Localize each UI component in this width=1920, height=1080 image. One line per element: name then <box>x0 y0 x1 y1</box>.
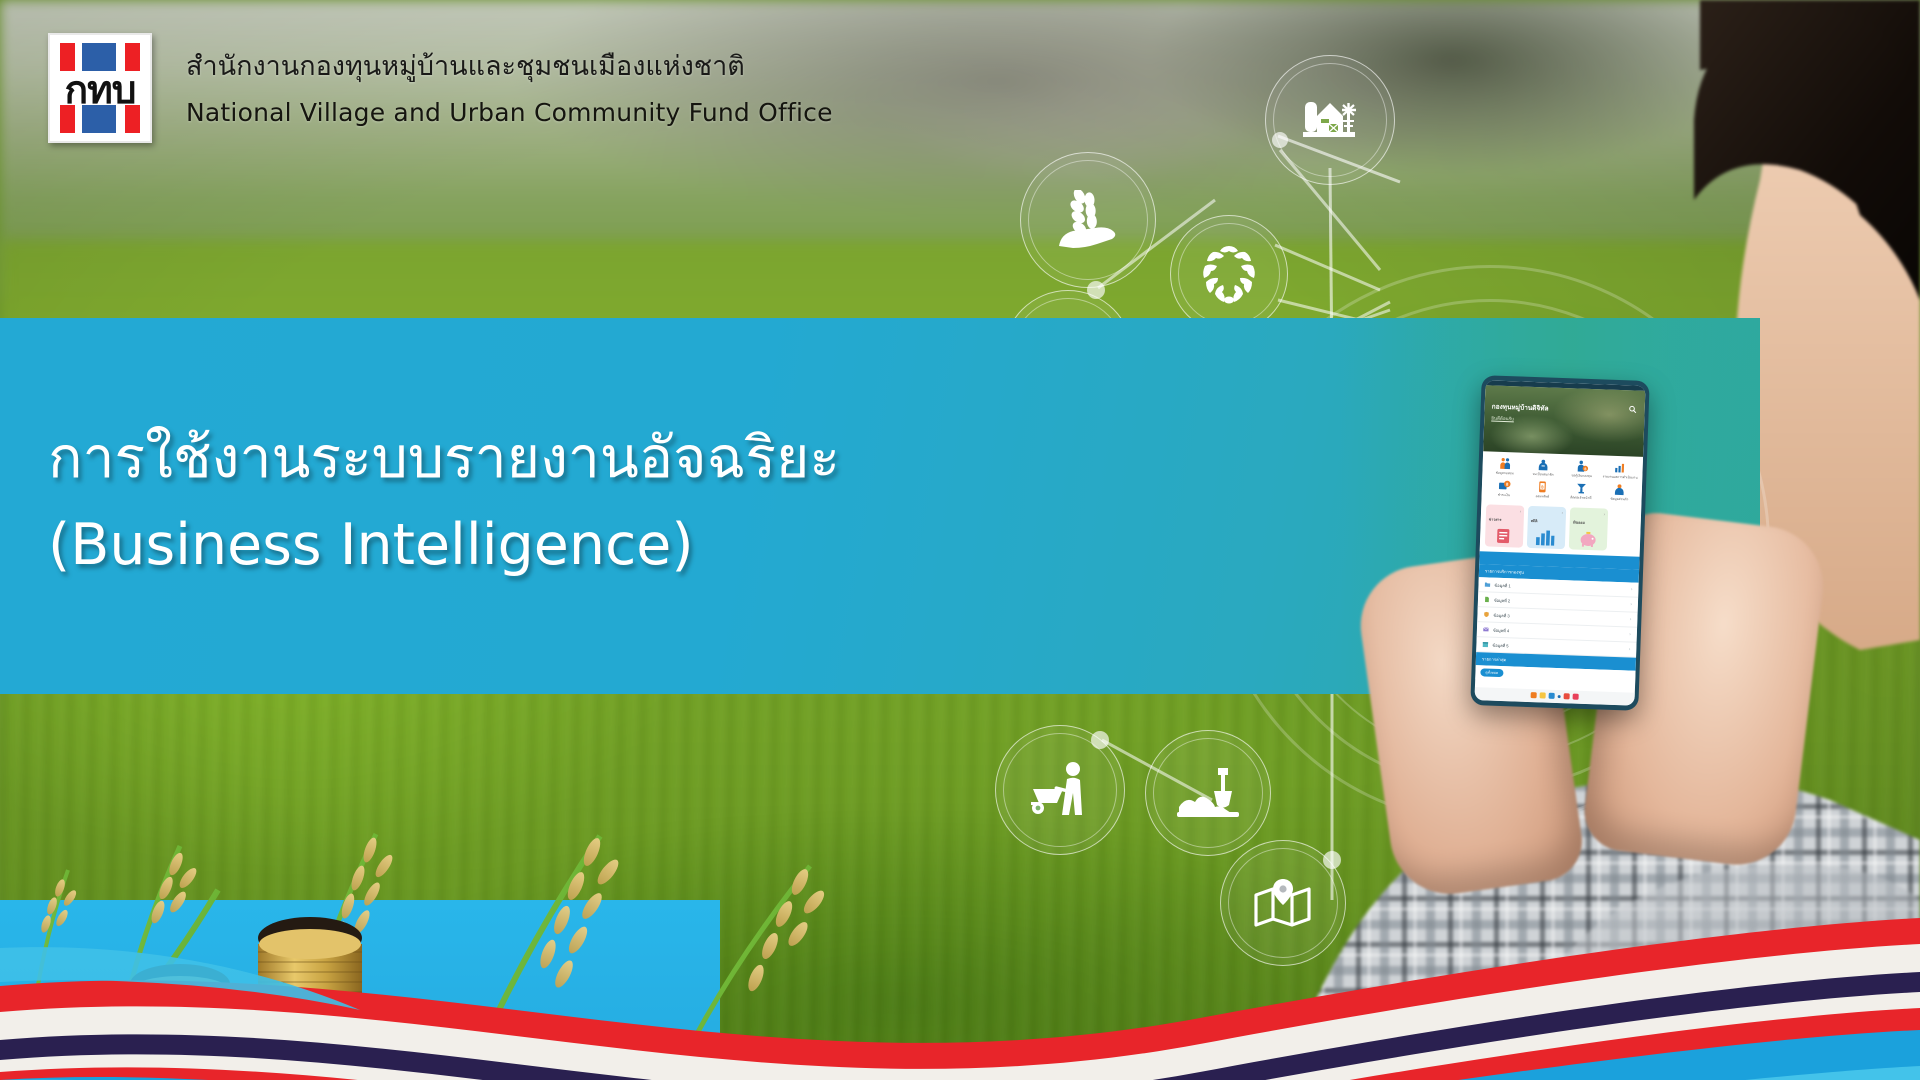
menu-item-label: ชำระเงิน <box>1498 494 1510 498</box>
shield-icon <box>1483 612 1489 618</box>
feature-card-label: สถิติ <box>1531 519 1538 523</box>
piggy-bank-icon <box>1579 531 1598 548</box>
list-item-label: ข้อมูลที่ 3 <box>1493 612 1509 620</box>
svg-text:฿: ฿ <box>1541 485 1544 490</box>
logo-text: กทบ <box>50 69 150 113</box>
feature-card-label: ข่าวสาร <box>1489 518 1502 522</box>
menu-item-label: ข้อมูลส่วนตัว <box>1610 498 1628 502</box>
menu-item[interactable]: ข้อมูลกองทุน <box>1485 456 1524 476</box>
nav-icon-4[interactable] <box>1558 695 1561 698</box>
nav-icon-2[interactable] <box>1540 692 1546 698</box>
loan-person-icon: ฿ <box>1575 459 1588 472</box>
chevron-right-icon: › <box>1520 509 1522 514</box>
phone-bottom-nav <box>1474 687 1634 706</box>
nav-icon-1[interactable] <box>1531 692 1537 698</box>
app-hero-banner: กองทุนหมู่บ้านดิจิทัล ยินดีต้อนรับ <box>1483 385 1645 457</box>
document-icon <box>1484 597 1490 603</box>
smartphone-mockup: กองทุนหมู่บ้านดิจิทัล ยินดีต้อนรับ ข้อมู… <box>1470 375 1649 711</box>
folder-icon <box>1484 582 1490 588</box>
menu-item-label: ขอกู้เงินกองทุน <box>1571 474 1592 478</box>
list-item-label: ข้อมูลที่ 1 <box>1494 582 1510 590</box>
chevron-right-icon: › <box>1631 587 1633 593</box>
savings-icon: ฿ <box>1536 480 1549 493</box>
calendar-icon <box>1482 642 1488 648</box>
chevron-right-icon: › <box>1630 617 1632 623</box>
payment-icon: ฿ <box>1497 479 1510 492</box>
app-feature-cards: ข่าวสาร › สถิติ › <box>1480 501 1642 558</box>
menu-item-label: ข้อมูลกองทุน <box>1496 472 1514 476</box>
menu-item[interactable]: รายงานผลการดำเนินงาน <box>1601 460 1640 480</box>
phone-screen: กองทุนหมู่บ้านดิจิทัล ยินดีต้อนรับ ข้อมู… <box>1474 380 1645 705</box>
view-all-chip[interactable]: ดูทั้งหมด <box>1480 669 1503 678</box>
feature-card[interactable]: สถิติ › <box>1527 506 1566 549</box>
search-icon[interactable] <box>1629 405 1637 413</box>
chevron-right-icon: › <box>1562 510 1564 515</box>
feature-card[interactable]: ข่าวสาร › <box>1485 505 1524 548</box>
org-name-thai: สำนักงานกองทุนหมู่บ้านและชุมชนเมืองแห่งช… <box>186 44 745 87</box>
nav-icon-6[interactable] <box>1573 694 1579 700</box>
people-icon <box>1498 457 1511 470</box>
slide-title-line1: การใช้งานระบบรายงานอัจฉริยะ <box>48 413 840 503</box>
mail-icon <box>1483 627 1489 633</box>
bottom-decoration <box>0 820 1920 1080</box>
thai-flag-wave-ribbon <box>0 890 1920 1080</box>
chevron-right-icon: › <box>1629 647 1631 653</box>
menu-item-label: ออมทรัพย์ <box>1535 495 1549 499</box>
nav-icon-3[interactable] <box>1549 693 1555 699</box>
menu-item[interactable]: ฿ ออมทรัพย์ <box>1523 480 1562 500</box>
profile-icon <box>1613 483 1626 496</box>
org-name-english: National Village and Urban Community Fun… <box>186 98 833 127</box>
menu-item-label: ติดต่อเจ้าหน้าที่ <box>1570 497 1591 501</box>
slide-root: การใช้งานระบบรายงานอัจฉริยะ (Business In… <box>0 0 1920 1080</box>
app-subtitle: ยินดีต้อนรับ <box>1491 415 1514 423</box>
report-chart-icon <box>1614 461 1627 474</box>
list-item-label: ข้อมูลที่ 5 <box>1492 642 1508 650</box>
menu-item[interactable]: ฿ ชำระเงิน <box>1485 479 1524 499</box>
contact-icon <box>1574 482 1587 495</box>
menu-item[interactable]: ข้อมูลส่วนตัว <box>1600 483 1639 503</box>
chevron-right-icon: › <box>1604 512 1606 517</box>
menu-item-label: รายงานผลการดำเนินงาน <box>1603 475 1638 479</box>
svg-text:฿: ฿ <box>1506 482 1509 487</box>
app-list: ข้อมูลที่ 1 › ข้อมูลที่ 2 › ข้อมูลที่ 3 … <box>1476 578 1639 659</box>
menu-item[interactable]: ฿ ขอกู้เงินกองทุน <box>1562 459 1601 479</box>
menu-item[interactable]: ทะเบียนสมาชิก <box>1524 458 1563 478</box>
chevron-right-icon: › <box>1630 602 1632 608</box>
chevron-right-icon: › <box>1629 632 1631 638</box>
ktb-logo: กทบ <box>48 33 152 143</box>
menu-item[interactable]: ติดต่อเจ้าหน้าที่ <box>1562 481 1601 501</box>
app-menu-grid: ข้อมูลกองทุน ทะเบียนสมาชิก ฿ <box>1481 451 1643 506</box>
page-header: กทบ สำนักงานกองทุนหมู่บ้านและชุมชนเมืองแ… <box>0 0 1920 180</box>
feature-card-label: เงินออม <box>1573 521 1585 525</box>
slide-title-line2: (Business Intelligence) <box>48 512 694 578</box>
nav-icon-5[interactable] <box>1564 693 1570 699</box>
list-item-label: ข้อมูลที่ 4 <box>1493 627 1509 635</box>
list-item-label: ข้อมูลที่ 2 <box>1494 597 1510 605</box>
member-card-icon <box>1537 458 1550 471</box>
news-icon <box>1496 528 1511 544</box>
app-title: กองทุนหมู่บ้านดิจิทัล <box>1492 402 1549 414</box>
menu-item-label: ทะเบียนสมาชิก <box>1533 473 1554 477</box>
feature-card[interactable]: เงินออม › <box>1569 508 1608 551</box>
bar-chart-icon <box>1535 530 1556 547</box>
